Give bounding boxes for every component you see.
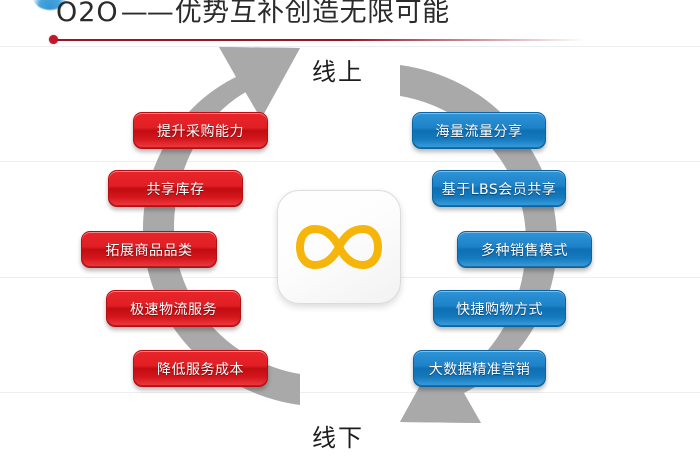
label-online: 线上 [312, 52, 364, 87]
center-card [277, 190, 401, 304]
online-benefit-pill-label: 极速物流服务 [130, 299, 217, 319]
online-benefit-pill-4[interactable]: 极速物流服务 [106, 290, 241, 327]
online-benefit-pill-3[interactable]: 拓展商品品类 [81, 231, 217, 268]
online-benefit-pill-label: 降低服务成本 [157, 359, 244, 379]
offline-benefit-pill-label: 多种销售模式 [481, 240, 568, 260]
online-benefit-pill-1[interactable]: 提升采购能力 [133, 112, 268, 149]
offline-benefit-pill-label: 基于LBS会员共享 [442, 179, 557, 199]
slide-canvas: O2O——优势互补创造无限可能 线上 线下 提升采购能力共享库存拓展商品品类极速… [0, 0, 700, 470]
offline-benefit-pill-2[interactable]: 基于LBS会员共享 [432, 170, 566, 207]
online-benefit-pill-label: 共享库存 [147, 179, 205, 199]
offline-benefit-pill-3[interactable]: 多种销售模式 [457, 231, 592, 268]
offline-benefit-pill-4[interactable]: 快捷购物方式 [433, 290, 566, 327]
online-benefit-pill-5[interactable]: 降低服务成本 [133, 350, 268, 387]
infinity-icon [277, 190, 401, 304]
online-benefit-pill-label: 提升采购能力 [157, 121, 244, 141]
offline-benefit-pill-1[interactable]: 海量流量分享 [412, 112, 546, 149]
label-offline: 线下 [312, 418, 364, 453]
offline-benefit-pill-label: 大数据精准营销 [429, 359, 531, 379]
offline-benefit-pill-label: 快捷购物方式 [456, 299, 543, 319]
offline-benefit-pill-5[interactable]: 大数据精准营销 [413, 350, 546, 387]
online-benefit-pill-2[interactable]: 共享库存 [108, 170, 243, 207]
online-benefit-pill-label: 拓展商品品类 [106, 240, 193, 260]
offline-benefit-pill-label: 海量流量分享 [436, 121, 523, 141]
